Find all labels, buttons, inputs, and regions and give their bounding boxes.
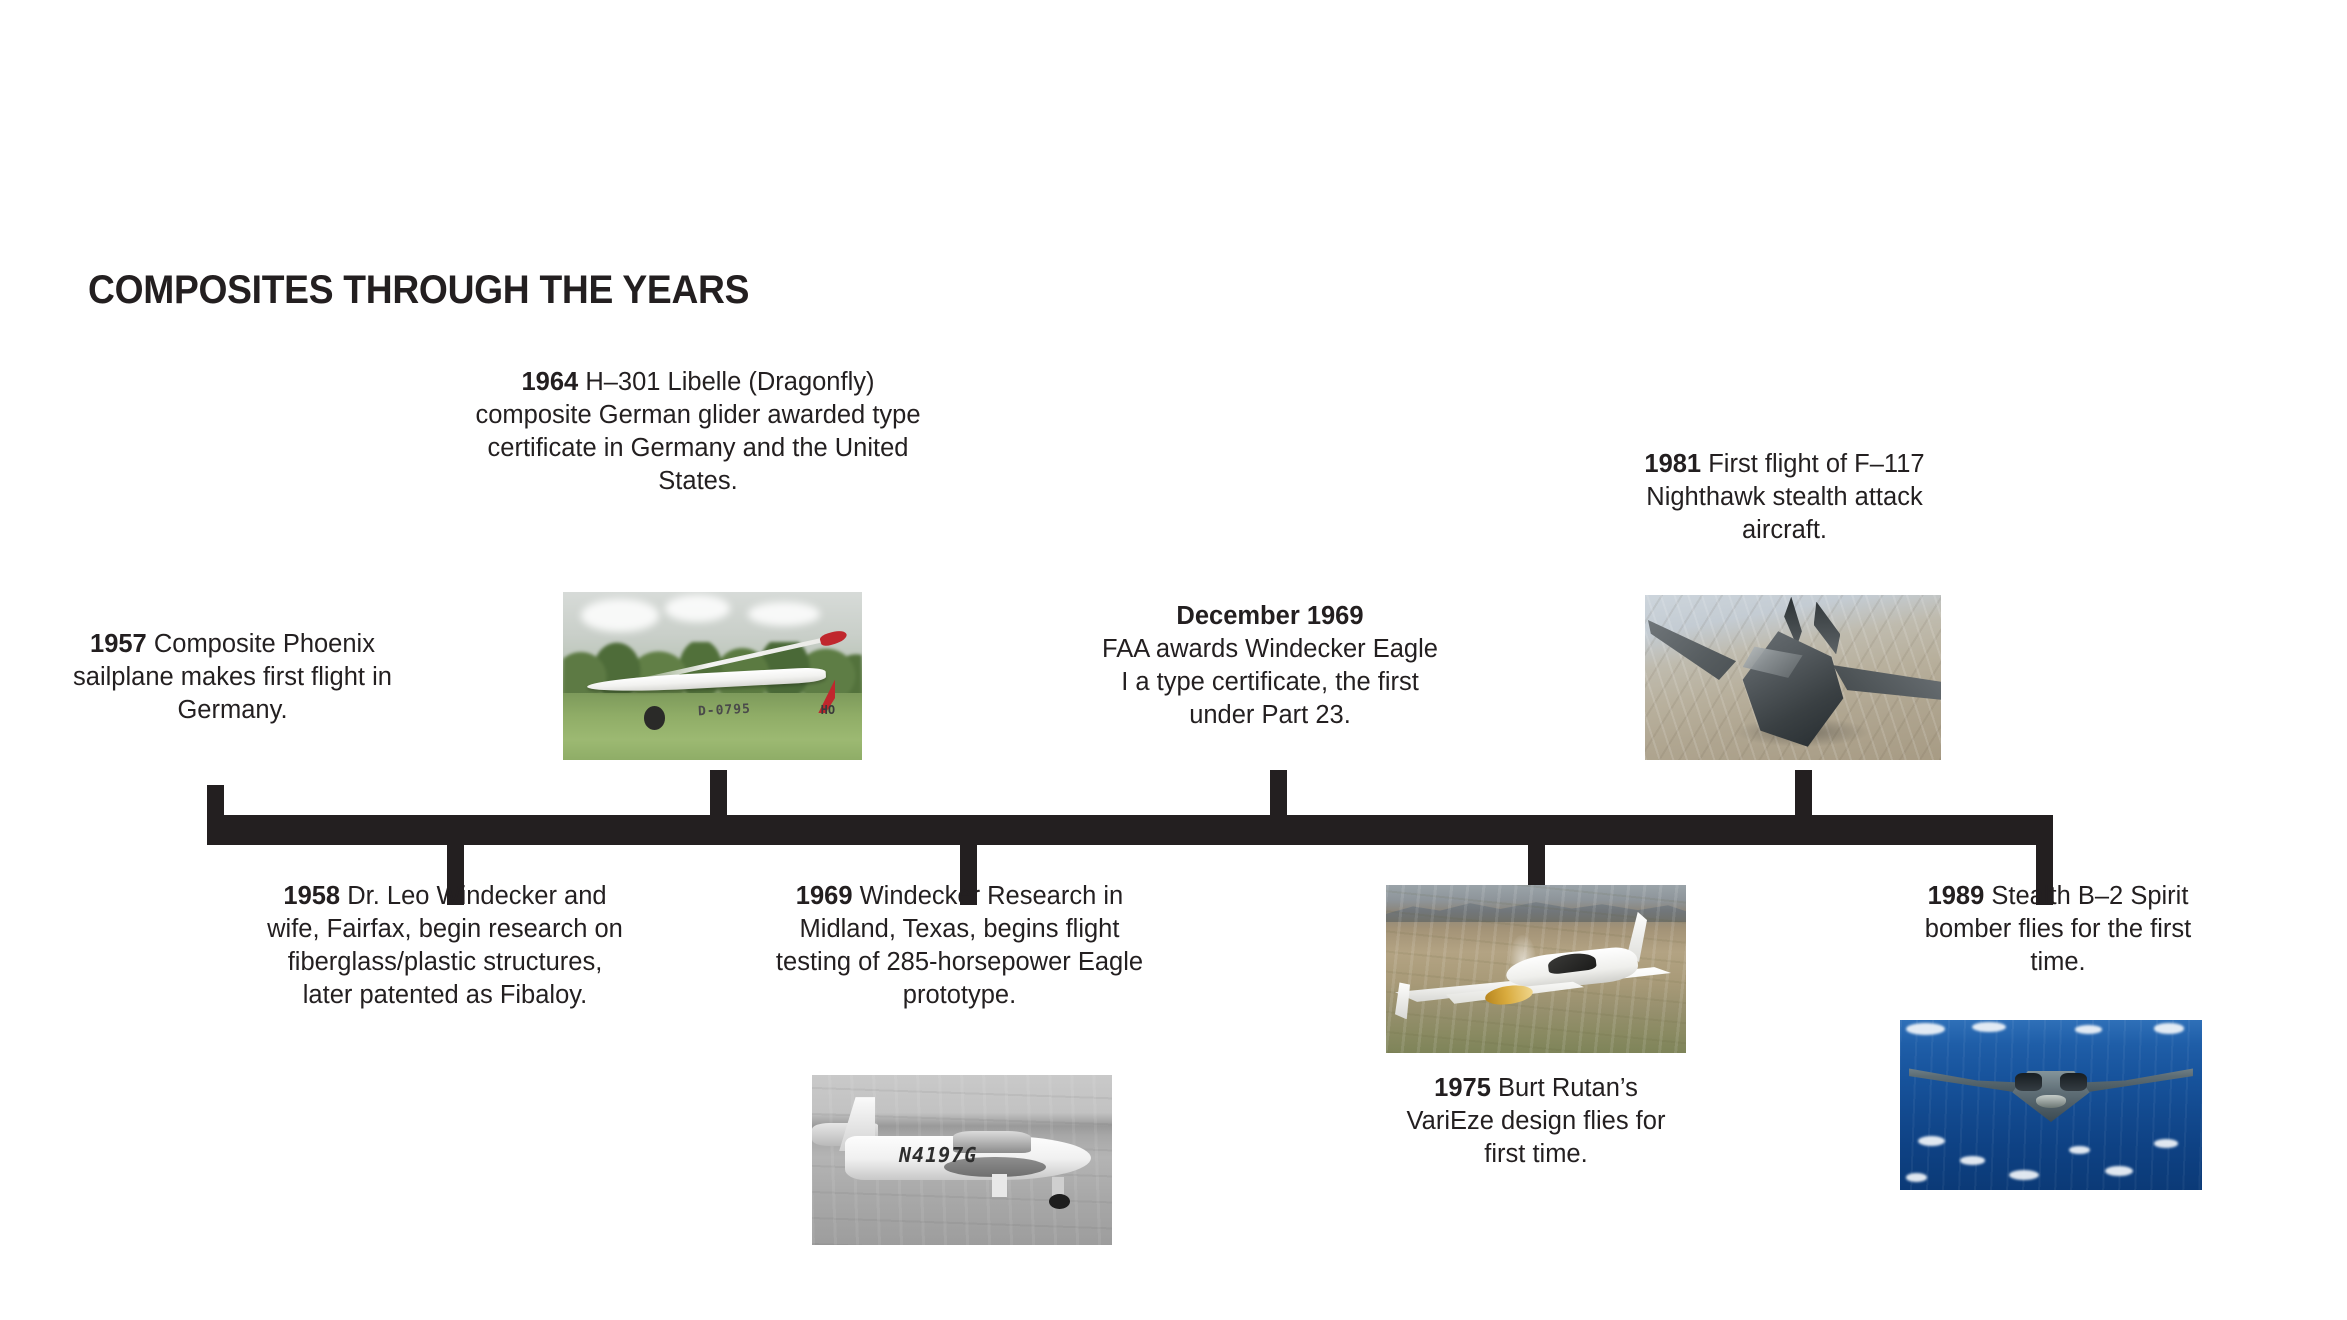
page-title: COMPOSITES THROUGH THE YEARS — [88, 268, 749, 313]
event-1957: 1957 Composite Phoenix sailplane makes f… — [50, 628, 415, 727]
event-1964: 1964 H–301 Libelle (Dragonfly) composite… — [468, 366, 928, 499]
cloud-shape — [581, 599, 659, 633]
cloud-shape — [2075, 1025, 2102, 1034]
event-dec1969-year: December 1969 — [1176, 602, 1363, 630]
eagle-registration-text: N4197G — [899, 1143, 977, 1167]
event-1981-year: 1981 — [1644, 450, 1701, 478]
photo-1964-libelle-glider: D-0795 HO — [563, 592, 862, 760]
glider-landing-gear — [644, 706, 665, 730]
eagle-main-gear — [992, 1174, 1007, 1198]
event-1981: 1981 First flight of F–117 Nighthawk ste… — [1612, 448, 1957, 547]
photo-1989-b2-spirit — [1900, 1020, 2202, 1190]
photo-1981-f117-nighthawk — [1645, 595, 1941, 760]
timeline-stem-1964 — [710, 770, 727, 817]
cloud-shape — [2009, 1170, 2039, 1180]
glider-registration-text: D-0795 — [697, 701, 751, 719]
cloud-shape — [2154, 1023, 2184, 1033]
event-1969-year: 1969 — [796, 882, 853, 910]
glider-tail-code-text: HO — [821, 703, 835, 717]
timeline-stem-1981 — [1795, 770, 1812, 817]
event-dec1969-body: FAA awards Windecker Eagle I a type cert… — [1102, 635, 1438, 729]
cloud-shape — [1960, 1156, 1984, 1165]
event-dec1969: December 1969 FAA awards Windecker Eagle… — [1095, 600, 1445, 733]
event-1957-year: 1957 — [90, 630, 147, 658]
event-1989-year: 1989 — [1928, 882, 1985, 910]
photo-1975-varieze — [1386, 885, 1686, 1053]
timeline-stem-dec1969 — [1270, 770, 1287, 817]
cloud-shape — [1906, 1173, 1927, 1182]
b2-engine-intake-right — [2060, 1073, 2087, 1092]
event-1975: 1975 Burt Rutan’s VariEze design flies f… — [1392, 1072, 1680, 1171]
cloud-shape — [1972, 1022, 2005, 1032]
cloud-shape — [2154, 1139, 2178, 1148]
b2-engine-intake-left — [2015, 1073, 2042, 1092]
photo-1969-windecker-eagle: N4197G — [812, 1075, 1112, 1245]
event-1958-year: 1958 — [283, 882, 340, 910]
event-1964-year: 1964 — [522, 368, 579, 396]
event-1975-year: 1975 — [1434, 1074, 1491, 1102]
timeline-stem-1957 — [207, 785, 224, 817]
cloud-shape — [748, 602, 820, 626]
event-1958: 1958 Dr. Leo Windecker and wife, Fairfax… — [265, 880, 625, 1013]
event-1969: 1969 Windecker Research in Midland, Texa… — [762, 880, 1157, 1013]
timeline-axis — [207, 815, 2053, 845]
infographic-canvas: COMPOSITES THROUGH THE YEARS 1957 Compos… — [0, 0, 2347, 1320]
event-1989: 1989 Stealth B–2 Spirit bomber flies for… — [1898, 880, 2218, 979]
cloud-shape — [1918, 1136, 1945, 1146]
